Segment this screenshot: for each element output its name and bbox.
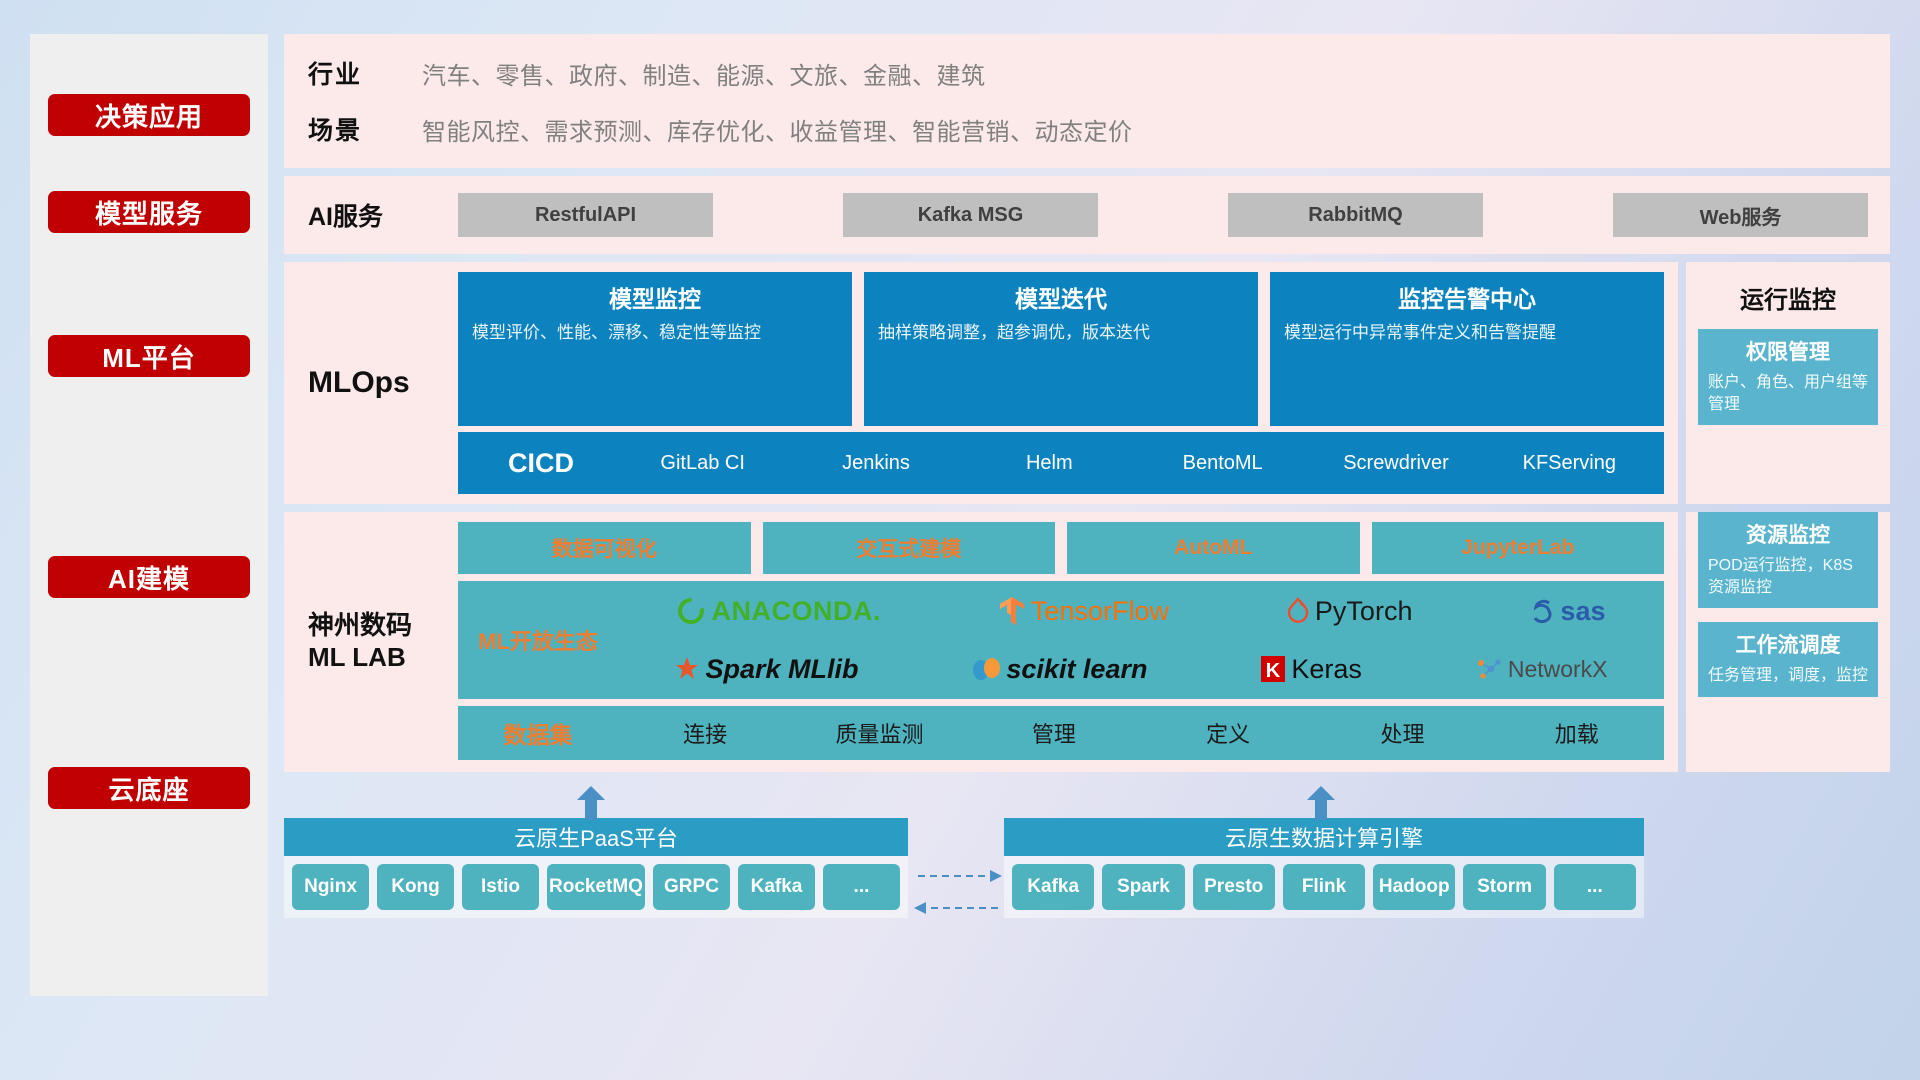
rail-label: 决策应用 [95, 97, 203, 134]
mlops-band: MLOps 模型监控 模型评价、性能、漂移、稳定性等监控 模型迭代 抽样策略调整… [284, 262, 1678, 504]
card-title: 模型监控 [472, 280, 838, 314]
card-desc: 任务管理，调度，监控 [1708, 665, 1868, 687]
cicd-title: CICD [466, 448, 616, 479]
pytorch-icon [1286, 596, 1310, 626]
card-desc: POD运行监控，K8S资源监控 [1708, 555, 1868, 598]
keras-label: Keras [1291, 654, 1362, 685]
dataset-item-process[interactable]: 处理 [1315, 717, 1489, 749]
monitor-card-permission[interactable]: 权限管理 账户、角色、用户组等管理 [1698, 329, 1878, 425]
service-box-rabbitmq[interactable]: RabbitMQ [1228, 193, 1483, 237]
scenario-value: 智能风控、需求预测、库存优化、收益管理、智能营销、动态定价 [422, 112, 1133, 147]
service-box-label: RestfulAPI [535, 204, 636, 227]
cicd-item-gitlab-ci[interactable]: GitLab CI [616, 452, 789, 474]
paas-chip-rocketmq[interactable]: RocketMQ [547, 864, 645, 910]
card-title: 工作流调度 [1708, 629, 1868, 659]
networkx-logo: NetworkX [1475, 655, 1608, 683]
spark-mllib-logo: Spark MLlib [674, 654, 858, 685]
card-desc: 模型运行中异常事件定义和告警提醒 [1284, 322, 1650, 345]
sas-label: sas [1560, 596, 1605, 627]
engine-chip-flink[interactable]: Flink [1283, 864, 1365, 910]
model-service-band: AI服务 RestfulAPI Kafka MSG RabbitMQ Web服务 [284, 176, 1890, 254]
dataset-item-load[interactable]: 加载 [1490, 717, 1664, 749]
keras-logo: K Keras [1260, 654, 1362, 685]
ml-lab-label: 神州数码 ML LAB [308, 522, 458, 760]
lab-tab-data-visualization[interactable]: 数据可视化 [458, 522, 751, 574]
engine-chip-more[interactable]: ... [1554, 864, 1636, 910]
engine-chip-kafka[interactable]: Kafka [1012, 864, 1094, 910]
card-title: 资源监控 [1708, 519, 1868, 549]
rail-label: 云底座 [108, 770, 189, 807]
industry-label: 行业 [308, 55, 388, 91]
monitor-card-workflow[interactable]: 工作流调度 任务管理，调度，监控 [1698, 622, 1878, 697]
rail-decision-app[interactable]: 决策应用 [48, 94, 250, 136]
card-title: 监控告警中心 [1284, 280, 1650, 314]
data-engine-block: 云原生数据计算引擎 Kafka Spark Presto Flink Hadoo… [1004, 796, 1644, 1044]
service-box-label: RabbitMQ [1308, 204, 1402, 227]
arrow-up-icon-right [1304, 786, 1338, 820]
card-desc: 抽样策略调整，超参调优，版本迭代 [878, 322, 1244, 345]
layer-rail: 决策应用 模型服务 ML平台 AI建模 云底座 [30, 34, 268, 996]
card-title: 模型迭代 [878, 280, 1244, 314]
networkx-icon [1475, 655, 1503, 683]
card-title: 权限管理 [1708, 336, 1868, 366]
ai-service-label: AI服务 [308, 197, 458, 233]
scenario-label: 场景 [308, 111, 388, 147]
lab-tab-automl[interactable]: AutoML [1067, 522, 1360, 574]
cicd-item-helm[interactable]: Helm [963, 452, 1136, 474]
rail-ai-modeling[interactable]: AI建模 [48, 556, 250, 598]
paas-chip-nginx[interactable]: Nginx [292, 864, 369, 910]
ml-lab-label-line2: ML LAB [308, 642, 406, 672]
ai-modeling-row: 神州数码 ML LAB 数据可视化 交互式建模 AutoML JupyterLa… [284, 512, 1890, 772]
spark-star-icon [674, 656, 700, 682]
paas-platform-title: 云原生PaaS平台 [284, 818, 908, 856]
cloud-base-row: 云原生PaaS平台 Nginx Kong Istio RocketMQ GRPC… [284, 780, 1890, 1044]
lab-tab-interactive-modeling[interactable]: 交互式建模 [763, 522, 1056, 574]
scikit-learn-label: scikit learn [1006, 654, 1147, 685]
ml-lab-band: 神州数码 ML LAB 数据可视化 交互式建模 AutoML JupyterLa… [284, 512, 1678, 772]
engine-chip-presto[interactable]: Presto [1193, 864, 1275, 910]
dataset-item-connect[interactable]: 连接 [618, 717, 792, 749]
cicd-item-jenkins[interactable]: Jenkins [789, 452, 962, 474]
ml-ecosystem-panel: ML开放生态 ANACONDA. [458, 581, 1664, 699]
scikit-learn-icon [971, 654, 1001, 684]
card-desc: 模型评价、性能、漂移、稳定性等监控 [472, 322, 838, 345]
bidirectional-connector-icon [912, 864, 1004, 920]
data-engine-title: 云原生数据计算引擎 [1004, 818, 1644, 856]
engine-chip-hadoop[interactable]: Hadoop [1373, 864, 1455, 910]
content-column: 行业 汽车、零售、政府、制造、能源、文旅、金融、建筑 场景 智能风控、需求预测、… [284, 34, 1890, 1044]
tensorflow-label: TensorFlow [1031, 596, 1169, 627]
rail-cloud-base[interactable]: 云底座 [48, 767, 250, 809]
spark-label: Spark MLlib [705, 654, 858, 685]
mlops-card-model-monitoring[interactable]: 模型监控 模型评价、性能、漂移、稳定性等监控 [458, 272, 852, 426]
cicd-item-screwdriver[interactable]: Screwdriver [1309, 452, 1482, 474]
monitoring-sidebar: 运行监控 权限管理 账户、角色、用户组等管理 [1686, 262, 1890, 504]
paas-chip-grpc[interactable]: GRPC [653, 864, 730, 910]
service-box-label: Web服务 [1700, 201, 1782, 230]
anaconda-logo: ANACONDA. [676, 596, 881, 627]
rail-label: 模型服务 [95, 194, 203, 231]
rail-ml-platform[interactable]: ML平台 [48, 335, 250, 377]
tensorflow-logo: TensorFlow [998, 595, 1169, 627]
dataset-item-quality-monitoring[interactable]: 质量监测 [792, 717, 966, 749]
ml-lab-label-line1: 神州数码 [308, 610, 412, 640]
engine-chip-storm[interactable]: Storm [1463, 864, 1545, 910]
tensorflow-icon [998, 595, 1026, 627]
anaconda-icon [676, 596, 706, 626]
pytorch-logo: PyTorch [1286, 596, 1413, 627]
dataset-item-define[interactable]: 定义 [1141, 717, 1315, 749]
svg-text:K: K [1266, 660, 1281, 682]
rail-label: ML平台 [102, 338, 196, 375]
ml-ecosystem-label: ML开放生态 [458, 583, 618, 697]
dataset-title: 数据集 [458, 716, 618, 750]
service-box-restfulapi[interactable]: RestfulAPI [458, 193, 713, 237]
mlops-card-alert-center[interactable]: 监控告警中心 模型运行中异常事件定义和告警提醒 [1270, 272, 1664, 426]
service-box-label: Kafka MSG [918, 204, 1024, 227]
service-box-kafka-msg[interactable]: Kafka MSG [843, 193, 1098, 237]
lab-tab-jupyterlab[interactable]: JupyterLab [1372, 522, 1665, 574]
rail-label: AI建模 [108, 559, 190, 596]
monitoring-sidebar-lower: 资源监控 POD运行监控，K8S资源监控 工作流调度 任务管理，调度，监控 [1686, 512, 1890, 772]
scenario-row: 场景 智能风控、需求预测、库存优化、收益管理、智能营销、动态定价 [308, 111, 1890, 147]
keras-icon: K [1260, 654, 1286, 684]
engine-chip-spark[interactable]: Spark [1102, 864, 1184, 910]
paas-chip-kafka[interactable]: Kafka [738, 864, 815, 910]
card-desc: 账户、角色、用户组等管理 [1708, 372, 1868, 415]
paas-chip-kong[interactable]: Kong [377, 864, 454, 910]
mlops-card-model-iteration[interactable]: 模型迭代 抽样策略调整，超参调优，版本迭代 [864, 272, 1258, 426]
diagram-root: 决策应用 模型服务 ML平台 AI建模 云底座 行业 汽车、零售、政府、制造、能… [0, 0, 1920, 1080]
cicd-bar: CICD GitLab CI Jenkins Helm BentoML Scre… [458, 432, 1664, 494]
scikit-learn-logo: scikit learn [971, 654, 1147, 685]
arrow-up-icon-left [574, 786, 608, 820]
anaconda-label: ANACONDA. [711, 596, 881, 627]
dataset-item-manage[interactable]: 管理 [967, 717, 1141, 749]
paas-platform-block: 云原生PaaS平台 Nginx Kong Istio RocketMQ GRPC… [284, 796, 908, 1044]
monitoring-title: 运行监控 [1698, 280, 1878, 315]
service-box-web[interactable]: Web服务 [1613, 193, 1868, 237]
cicd-item-kfserving[interactable]: KFServing [1483, 452, 1656, 474]
paas-chip-istio[interactable]: Istio [462, 864, 539, 910]
monitor-card-resource[interactable]: 资源监控 POD运行监控，K8S资源监控 [1698, 512, 1878, 608]
decision-app-band: 行业 汽车、零售、政府、制造、能源、文旅、金融、建筑 场景 智能风控、需求预测、… [284, 34, 1890, 168]
ml-platform-row: MLOps 模型监控 模型评价、性能、漂移、稳定性等监控 模型迭代 抽样策略调整… [284, 262, 1890, 504]
sas-logo: sas [1529, 596, 1605, 627]
industry-row: 行业 汽车、零售、政府、制造、能源、文旅、金融、建筑 [308, 55, 1890, 91]
pytorch-label: PyTorch [1315, 596, 1413, 627]
cicd-item-bentoml[interactable]: BentoML [1136, 452, 1309, 474]
mlops-label: MLOps [308, 272, 458, 494]
rail-model-service[interactable]: 模型服务 [48, 191, 250, 233]
industry-value: 汽车、零售、政府、制造、能源、文旅、金融、建筑 [422, 56, 986, 91]
sas-icon [1529, 597, 1555, 625]
dataset-bar: 数据集 连接 质量监测 管理 定义 处理 加载 [458, 706, 1664, 760]
networkx-label: NetworkX [1508, 656, 1608, 683]
paas-chip-more[interactable]: ... [823, 864, 900, 910]
